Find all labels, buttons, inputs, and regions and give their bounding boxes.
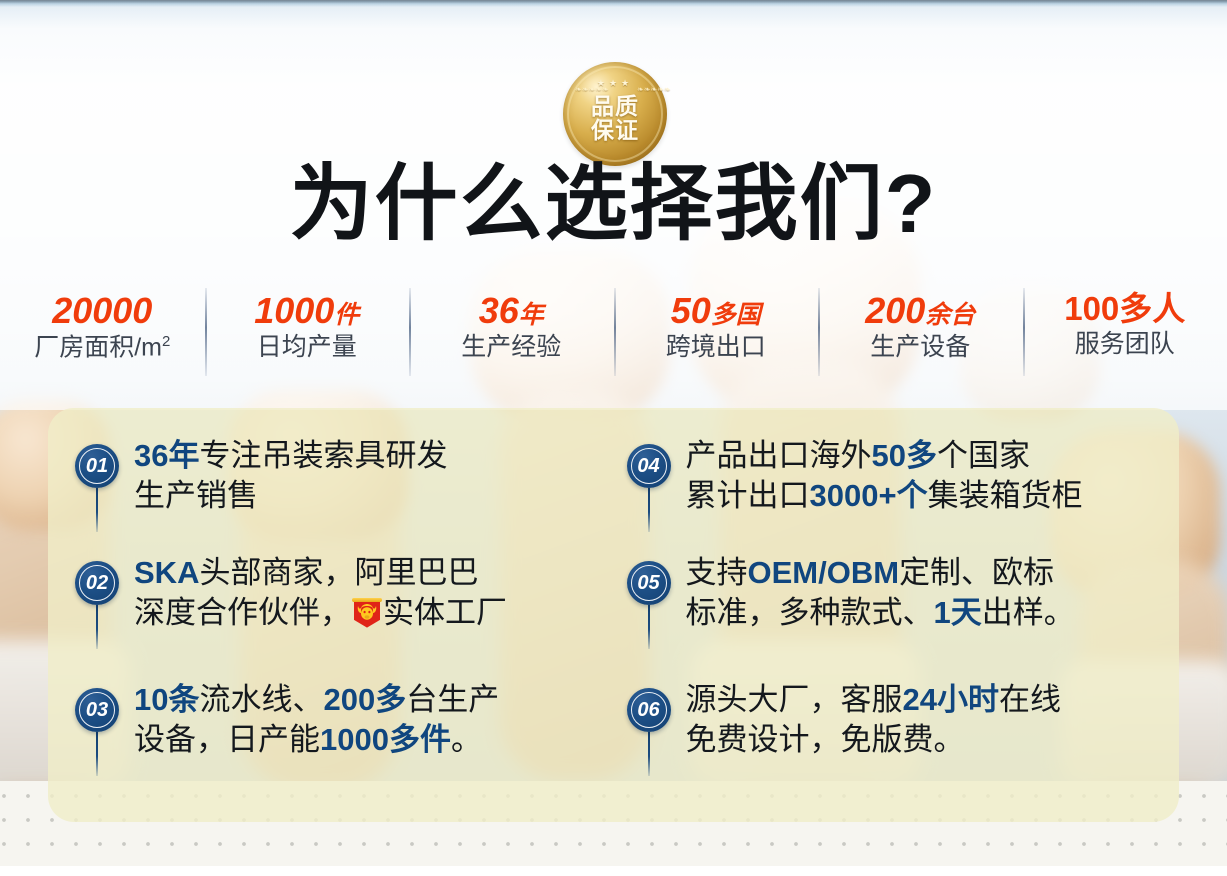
feature-badge-wrap: 03 bbox=[70, 680, 124, 776]
feature-line-1: 支持OEM/OBM定制、欧标 bbox=[686, 553, 1075, 593]
stat-label: 日均产量 bbox=[205, 333, 410, 362]
feature-item-04: 04 产品出口海外50多个国家 累计出口3000+个集装箱货柜 bbox=[622, 436, 1083, 532]
feature-line-2: 生产销售 bbox=[134, 476, 447, 516]
stat-item-service-team: 100多人 服务团队 bbox=[1023, 290, 1227, 382]
number-badge-icon: 02 bbox=[75, 561, 119, 605]
stat-label: 跨境出口 bbox=[614, 333, 819, 362]
feature-line-2: 累计出口3000+个集装箱货柜 bbox=[686, 476, 1083, 516]
stat-value: 1000件 bbox=[205, 292, 410, 330]
number-badge-icon: 05 bbox=[627, 561, 671, 605]
medal-text: 品质 保证 bbox=[563, 62, 667, 166]
features-column-left: 01 36年专注吊装索具研发 生产销售 02 SKA头部商家，阿里巴巴 bbox=[48, 408, 614, 822]
feature-badge-wrap: 05 bbox=[622, 553, 676, 649]
stat-label: 厂房面积/m2 bbox=[0, 333, 205, 362]
feature-text: 36年专注吊装索具研发 生产销售 bbox=[124, 436, 447, 515]
number-badge-icon: 04 bbox=[627, 444, 671, 488]
medal-text-line2: 保证 bbox=[591, 119, 639, 142]
feature-line-1: 产品出口海外50多个国家 bbox=[686, 436, 1083, 476]
feature-line-1: 10条流水线、200多台生产 bbox=[134, 680, 499, 720]
feature-line-1: SKA头部商家，阿里巴巴 bbox=[134, 553, 507, 593]
feature-line-2: 设备，日产能1000多件。 bbox=[134, 720, 499, 760]
badge-pin-icon bbox=[96, 605, 98, 649]
number-badge-icon: 01 bbox=[75, 444, 119, 488]
feature-text: SKA头部商家，阿里巴巴 深度合作伙伴，实体工厂 bbox=[124, 553, 507, 632]
stat-item-export-countries: 50多国 跨境出口 bbox=[614, 290, 819, 382]
features-column-right: 04 产品出口海外50多个国家 累计出口3000+个集装箱货柜 05 支持OEM… bbox=[614, 408, 1180, 822]
features-panel: 01 36年专注吊装索具研发 生产销售 02 SKA头部商家，阿里巴巴 bbox=[48, 408, 1179, 822]
feature-text: 源头大厂，客服24小时在线 免费设计，免版费。 bbox=[676, 680, 1061, 759]
feature-badge-wrap: 06 bbox=[622, 680, 676, 776]
page-title: 为什么选择我们? bbox=[0, 162, 1227, 245]
stat-item-factory-area: 20000 厂房面积/m2 bbox=[0, 290, 205, 382]
stat-label: 服务团队 bbox=[1023, 330, 1227, 359]
feature-item-02: 02 SKA头部商家，阿里巴巴 深度合作伙伴，实体工厂 bbox=[70, 553, 507, 649]
badge-pin-icon bbox=[96, 488, 98, 532]
feature-item-03: 03 10条流水线、200多台生产 设备，日产能1000多件。 bbox=[70, 680, 499, 776]
stat-item-equipment: 200余台 生产设备 bbox=[818, 290, 1023, 382]
stat-label: 生产设备 bbox=[818, 333, 1023, 362]
stat-label: 生产经验 bbox=[409, 333, 614, 362]
number-badge-icon: 03 bbox=[75, 688, 119, 732]
medal-text-line1: 品质 bbox=[591, 95, 639, 118]
stat-item-experience: 36年 生产经验 bbox=[409, 290, 614, 382]
number-badge-icon: 06 bbox=[627, 688, 671, 732]
feature-text: 产品出口海外50多个国家 累计出口3000+个集装箱货柜 bbox=[676, 436, 1083, 515]
quality-guarantee-medal-icon: ★★★ ❧❧❧❧❧ ❧❧❧❧❧ 品质 保证 bbox=[563, 62, 667, 166]
feature-item-05: 05 支持OEM/OBM定制、欧标 标准，多种款式、1天出样。 bbox=[622, 553, 1075, 649]
promo-banner: ★★★ ❧❧❧❧❧ ❧❧❧❧❧ 品质 保证 为什么选择我们? 20000 厂房面… bbox=[0, 0, 1227, 876]
feature-line-2: 深度合作伙伴，实体工厂 bbox=[134, 593, 507, 633]
stat-value: 36年 bbox=[409, 292, 614, 330]
feature-line-2: 免费设计，免版费。 bbox=[686, 720, 1061, 760]
badge-pin-icon bbox=[96, 732, 98, 776]
top-edge-shadow bbox=[0, 0, 1227, 7]
badge-pin-icon bbox=[648, 605, 650, 649]
feature-text: 10条流水线、200多台生产 设备，日产能1000多件。 bbox=[124, 680, 499, 759]
feature-badge-wrap: 02 bbox=[70, 553, 124, 649]
stat-value: 50多国 bbox=[614, 292, 819, 330]
feature-line-1: 36年专注吊装索具研发 bbox=[134, 436, 447, 476]
stat-value: 20000 bbox=[0, 292, 205, 330]
feature-line-2: 标准，多种款式、1天出样。 bbox=[686, 593, 1075, 633]
badge-pin-icon bbox=[648, 732, 650, 776]
feature-text: 支持OEM/OBM定制、欧标 标准，多种款式、1天出样。 bbox=[676, 553, 1075, 632]
feature-badge-wrap: 04 bbox=[622, 436, 676, 532]
feature-line-1: 源头大厂，客服24小时在线 bbox=[686, 680, 1061, 720]
feature-badge-wrap: 01 bbox=[70, 436, 124, 532]
stat-value: 200余台 bbox=[818, 292, 1023, 330]
feature-item-01: 01 36年专注吊装索具研发 生产销售 bbox=[70, 436, 447, 532]
stat-value: 100多人 bbox=[1023, 292, 1227, 327]
alibaba-bull-shield-icon bbox=[352, 597, 382, 628]
stats-strip: 20000 厂房面积/m2 1000件 日均产量 36年 生产经验 50多国 跨… bbox=[0, 290, 1227, 382]
bull-head-glyph bbox=[356, 604, 378, 621]
feature-item-06: 06 源头大厂，客服24小时在线 免费设计，免版费。 bbox=[622, 680, 1061, 776]
stat-item-daily-output: 1000件 日均产量 bbox=[205, 290, 410, 382]
badge-pin-icon bbox=[648, 488, 650, 532]
